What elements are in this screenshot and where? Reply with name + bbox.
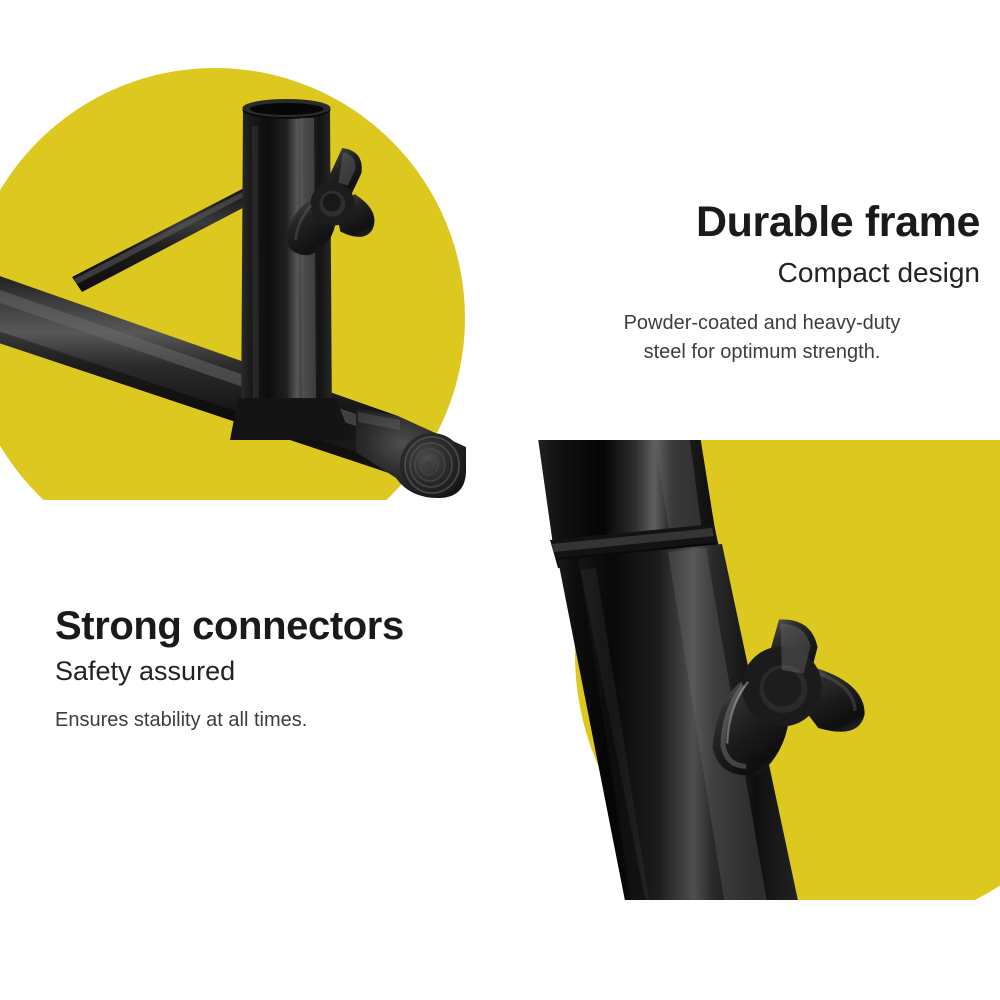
durable-frame-text-block: Durable frame Compact design Powder-coat… <box>520 200 980 420</box>
durable-frame-body-line-2: steel for optimum strength. <box>544 338 980 366</box>
durable-frame-subheading: Compact design <box>778 257 980 289</box>
strong-connectors-body-line-1: Ensures stability at all times. <box>55 706 307 734</box>
durable-frame-heading: Durable frame <box>696 200 980 245</box>
strong-connectors-body: Ensures stability at all times. <box>55 706 307 734</box>
strong-connectors-subheading: Safety assured <box>55 656 235 687</box>
t-joint-fillet <box>230 398 352 440</box>
infographic-canvas: Durable frame Compact design Powder-coat… <box>0 0 1000 1000</box>
durable-frame-body: Powder-coated and heavy-duty steel for o… <box>520 309 980 366</box>
connector-knob-photo <box>500 440 1000 900</box>
strong-connectors-text-block: Strong connectors Safety assured Ensures… <box>55 605 535 805</box>
frame-photo-panel <box>0 0 500 500</box>
frame-t-joint-photo <box>0 0 500 500</box>
durable-frame-body-line-1: Powder-coated and heavy-duty <box>544 309 980 337</box>
vertical-tube <box>241 99 332 430</box>
connector-photo-panel <box>500 440 1000 900</box>
strong-connectors-heading: Strong connectors <box>55 605 404 647</box>
